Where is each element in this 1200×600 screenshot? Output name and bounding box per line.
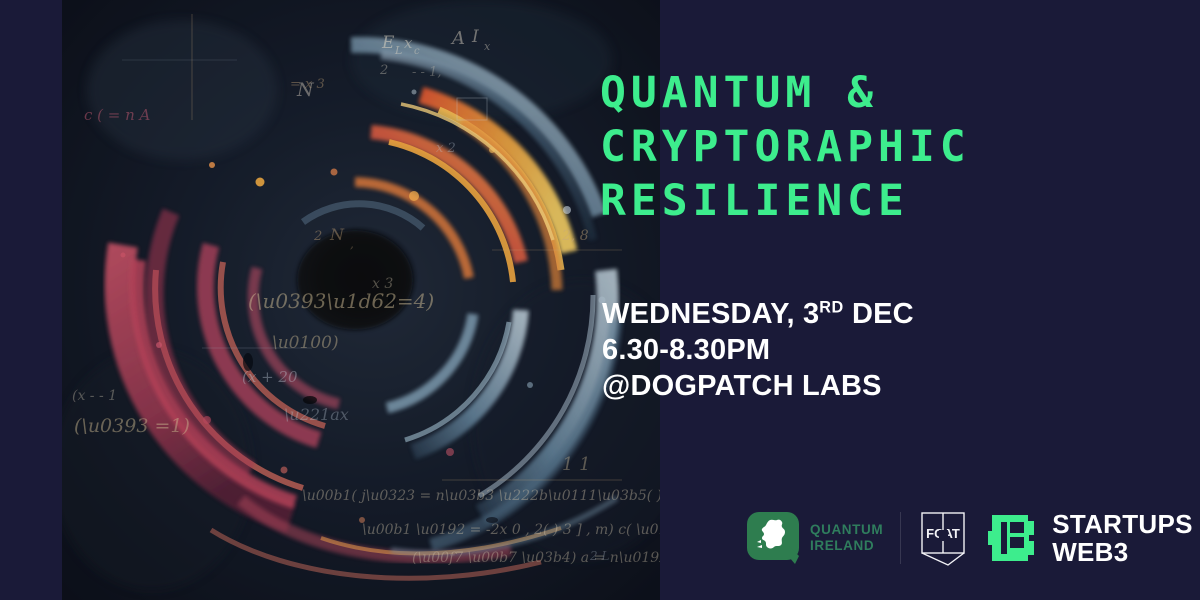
event-banner: E L x c A I x 2 - - 1, N = x 3 c ( = n A… <box>0 0 1200 600</box>
quantum-ireland-label: QUANTUM IRELAND <box>810 522 883 554</box>
logo-quantum-ireland[interactable]: QUANTUM IRELAND <box>745 510 883 566</box>
event-date-month: DEC <box>844 298 914 330</box>
logo-divider <box>900 512 901 564</box>
title-line-2: CRYPTORAPHIC <box>600 120 1160 174</box>
event-venue: @DOGPATCH LABS <box>602 368 1162 404</box>
startups-web3-label: STARTUPS WEB3 <box>1052 510 1193 566</box>
event-details: WEDNESDAY, 3RD DEC 6.30-8.30PM @DOGPATCH… <box>602 296 1162 404</box>
logo-fcat[interactable]: FCAT <box>918 507 970 569</box>
event-date-text: WEDNESDAY, 3 <box>602 298 819 330</box>
event-time: 6.30-8.30PM <box>602 332 1162 368</box>
startups-web3-block-b-icon <box>988 509 1040 567</box>
startups-web3-line-1: STARTUPS <box>1052 510 1193 538</box>
sponsor-logo-row: QUANTUM IRELAND FCAT <box>745 498 1193 578</box>
quantum-ireland-line-2: IRELAND <box>810 538 883 554</box>
page-title: QUANTUM & CRYPTORAPHIC RESILIENCE <box>600 66 1160 228</box>
event-date: WEDNESDAY, 3RD DEC <box>602 296 1162 332</box>
quantum-ireland-line-1: QUANTUM <box>810 522 883 538</box>
logo-startups-web3[interactable]: STARTUPS WEB3 <box>988 509 1193 567</box>
startups-web3-line-2: WEB3 <box>1052 538 1193 566</box>
event-date-ordinal: RD <box>819 298 843 316</box>
quantum-ireland-q-icon <box>745 510 801 566</box>
title-line-1: QUANTUM & <box>600 66 1160 120</box>
title-line-3: RESILIENCE <box>600 174 1160 228</box>
artwork-panel: E L x c A I x 2 - - 1, N = x 3 c ( = n A… <box>62 0 660 600</box>
